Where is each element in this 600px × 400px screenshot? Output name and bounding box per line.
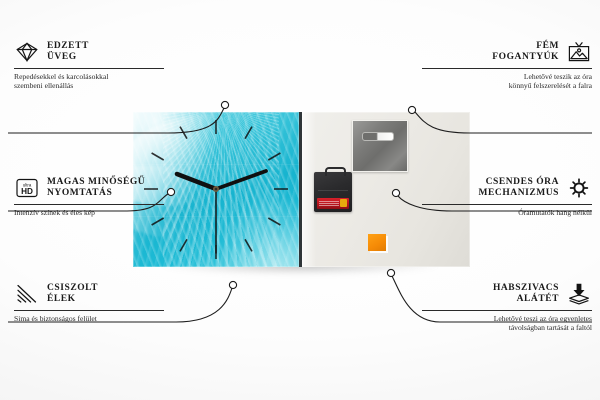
connector-node-hd-print: [167, 188, 174, 195]
feature-tempered-glass: EDZETTÜVEG Repedésekkel és karcolásokkal…: [14, 40, 164, 91]
feature-title: EDZETTÜVEG: [47, 41, 89, 64]
infographic-canvas: EDZETTÜVEG Repedésekkel és karcolásokkal…: [0, 0, 600, 400]
connector-metal-hangers: [415, 112, 592, 133]
feature-subtitle: Repedésekkel és karcolásokkalszembeni el…: [14, 72, 164, 91]
feature-subtitle: Intenzív színek és éles kép: [14, 208, 164, 217]
hatched-edge-icon: [14, 282, 40, 306]
feature-divider: [422, 68, 592, 69]
feature-foam-pad: HABSZIVACSALÁTÉT Lehetővé teszi az óra e…: [422, 282, 592, 333]
feature-head: FÉMFOGANTYÚK: [422, 40, 592, 64]
gear-icon: [566, 176, 592, 200]
connector-node-polished-edges: [229, 281, 236, 288]
feature-subtitle: Sima és biztonságos felület: [14, 314, 164, 323]
connector-node-silent-mechanism: [392, 189, 399, 196]
feature-head: ultra HD MAGAS MINŐSÉGŰNYOMTATÁS: [14, 176, 164, 200]
feature-hd-print: ultra HD MAGAS MINŐSÉGŰNYOMTATÁS Intenzí…: [14, 176, 164, 217]
feature-head: CSISZOLTÉLEK: [14, 282, 164, 306]
feature-divider: [422, 204, 592, 205]
arrow-onto-layers-icon: [566, 282, 592, 306]
feature-title: CSENDES ÓRAMECHANIZMUS: [479, 177, 559, 200]
connector-tempered-glass: [8, 108, 224, 133]
feature-title: CSISZOLTÉLEK: [47, 283, 98, 306]
feature-divider: [14, 310, 164, 311]
feature-head: CSENDES ÓRAMECHANIZMUS: [422, 176, 592, 200]
feature-head: HABSZIVACSALÁTÉT: [422, 282, 592, 306]
connector-node-tempered-glass: [221, 101, 228, 108]
feature-subtitle: Lehetővé teszik az órakönnyű felszerelés…: [422, 72, 592, 91]
diamond-icon: [14, 40, 40, 64]
feature-divider: [14, 204, 164, 205]
feature-title: HABSZIVACSALÁTÉT: [493, 283, 559, 306]
feature-subtitle: Óramutatók hang nélkül: [422, 208, 592, 217]
feature-subtitle: Lehetővé teszi az óra egyenletestávolság…: [422, 314, 592, 333]
picture-frame-icon: [566, 40, 592, 64]
connector-node-foam-pad: [387, 269, 394, 276]
feature-head: EDZETTÜVEG: [14, 40, 164, 64]
feature-polished-edges: CSISZOLTÉLEK Sima és biztonságos felület: [14, 282, 164, 323]
feature-title: FÉMFOGANTYÚK: [492, 41, 559, 64]
connector-node-metal-hangers: [408, 106, 415, 113]
feature-title: MAGAS MINŐSÉGŰNYOMTATÁS: [47, 177, 145, 200]
feature-divider: [14, 68, 164, 69]
svg-text:HD: HD: [21, 187, 33, 196]
feature-silent-mechanism: CSENDES ÓRAMECHANIZMUS Óramutatók hang n…: [422, 176, 592, 217]
ultra-hd-icon: ultra HD: [14, 176, 40, 200]
feature-divider: [422, 310, 592, 311]
feature-metal-hangers: FÉMFOGANTYÚK Lehetővé teszik az órakönny…: [422, 40, 592, 91]
